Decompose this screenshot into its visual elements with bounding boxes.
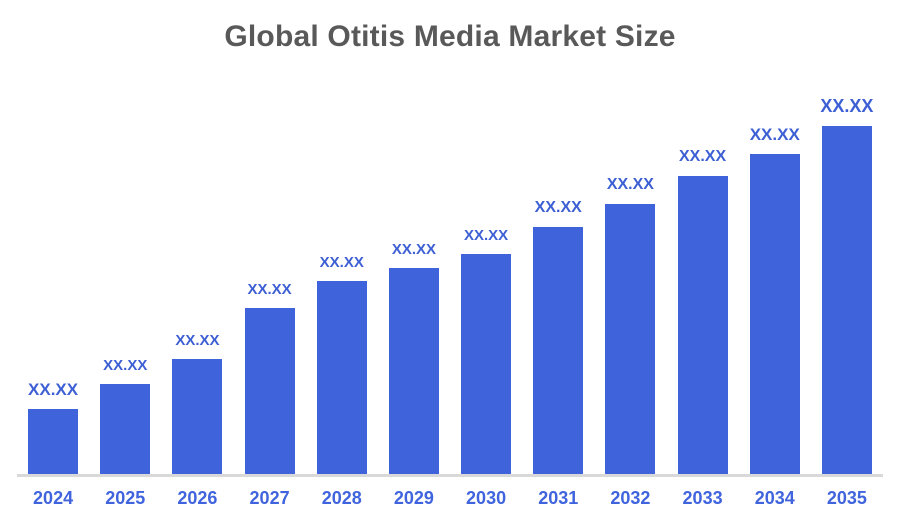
- bar-value-label-2029: XX.XX: [392, 242, 436, 257]
- chart-title: Global Otitis Media Market Size: [0, 20, 900, 54]
- x-axis-baseline: [17, 474, 883, 477]
- bar-2024[interactable]: [28, 409, 78, 475]
- bar-value-label-2026: XX.XX: [175, 333, 219, 348]
- bar-2031[interactable]: [533, 227, 583, 475]
- bar-value-label-2027: XX.XX: [247, 282, 291, 297]
- x-tick-label-2030: 2030: [450, 484, 522, 512]
- bar-value-label-2031: XX.XX: [535, 200, 582, 216]
- bar-2034[interactable]: [750, 154, 800, 475]
- bar-group-2033: XX.XX: [678, 70, 728, 475]
- bar-value-label-2025: XX.XX: [103, 358, 147, 373]
- bar-group-2031: XX.XX: [533, 70, 583, 475]
- x-axis-label-row: 2024202520262027202820292030203120322033…: [17, 484, 883, 518]
- x-tick-label-2034: 2034: [739, 484, 811, 512]
- x-tick-label-2031: 2031: [522, 484, 594, 512]
- bar-group-2035: XX.XX: [822, 70, 872, 475]
- bar-group-2032: XX.XX: [605, 70, 655, 475]
- bar-2028[interactable]: [317, 281, 367, 475]
- bar-value-label-2030: XX.XX: [464, 228, 508, 243]
- bar-2035[interactable]: [822, 126, 872, 475]
- bar-value-label-2028: XX.XX: [320, 255, 364, 270]
- x-tick-label-2029: 2029: [378, 484, 450, 512]
- bar-2030[interactable]: [461, 254, 511, 475]
- bar-group-2030: XX.XX: [461, 70, 511, 475]
- bar-2027[interactable]: [245, 308, 295, 475]
- x-tick-label-2035: 2035: [811, 484, 883, 512]
- bar-group-2024: XX.XX: [28, 70, 78, 475]
- x-tick-label-2032: 2032: [594, 484, 666, 512]
- bar-group-2028: XX.XX: [317, 70, 367, 475]
- bar-2025[interactable]: [100, 384, 150, 475]
- bar-group-2029: XX.XX: [389, 70, 439, 475]
- bar-2026[interactable]: [172, 359, 222, 475]
- bar-value-label-2024: XX.XX: [28, 381, 78, 398]
- chart-container: Global Otitis Media Market Size XX.XXXX.…: [0, 0, 900, 525]
- plot-area: XX.XXXX.XXXX.XXXX.XXXX.XXXX.XXXX.XXXX.XX…: [17, 70, 883, 475]
- bar-2032[interactable]: [605, 204, 655, 475]
- x-tick-label-2033: 2033: [667, 484, 739, 512]
- bar-group-2025: XX.XX: [100, 70, 150, 475]
- x-tick-label-2025: 2025: [89, 484, 161, 512]
- x-tick-label-2026: 2026: [161, 484, 233, 512]
- bar-value-label-2033: XX.XX: [679, 149, 726, 165]
- x-tick-label-2028: 2028: [306, 484, 378, 512]
- bar-group-2026: XX.XX: [172, 70, 222, 475]
- bar-value-label-2034: XX.XX: [750, 126, 800, 143]
- x-tick-label-2027: 2027: [234, 484, 306, 512]
- bar-2029[interactable]: [389, 268, 439, 475]
- bar-value-label-2032: XX.XX: [607, 177, 654, 193]
- x-tick-label-2024: 2024: [17, 484, 89, 512]
- bar-group-2034: XX.XX: [750, 70, 800, 475]
- bar-value-label-2035: XX.XX: [820, 97, 873, 115]
- bar-group-2027: XX.XX: [245, 70, 295, 475]
- bar-2033[interactable]: [678, 176, 728, 475]
